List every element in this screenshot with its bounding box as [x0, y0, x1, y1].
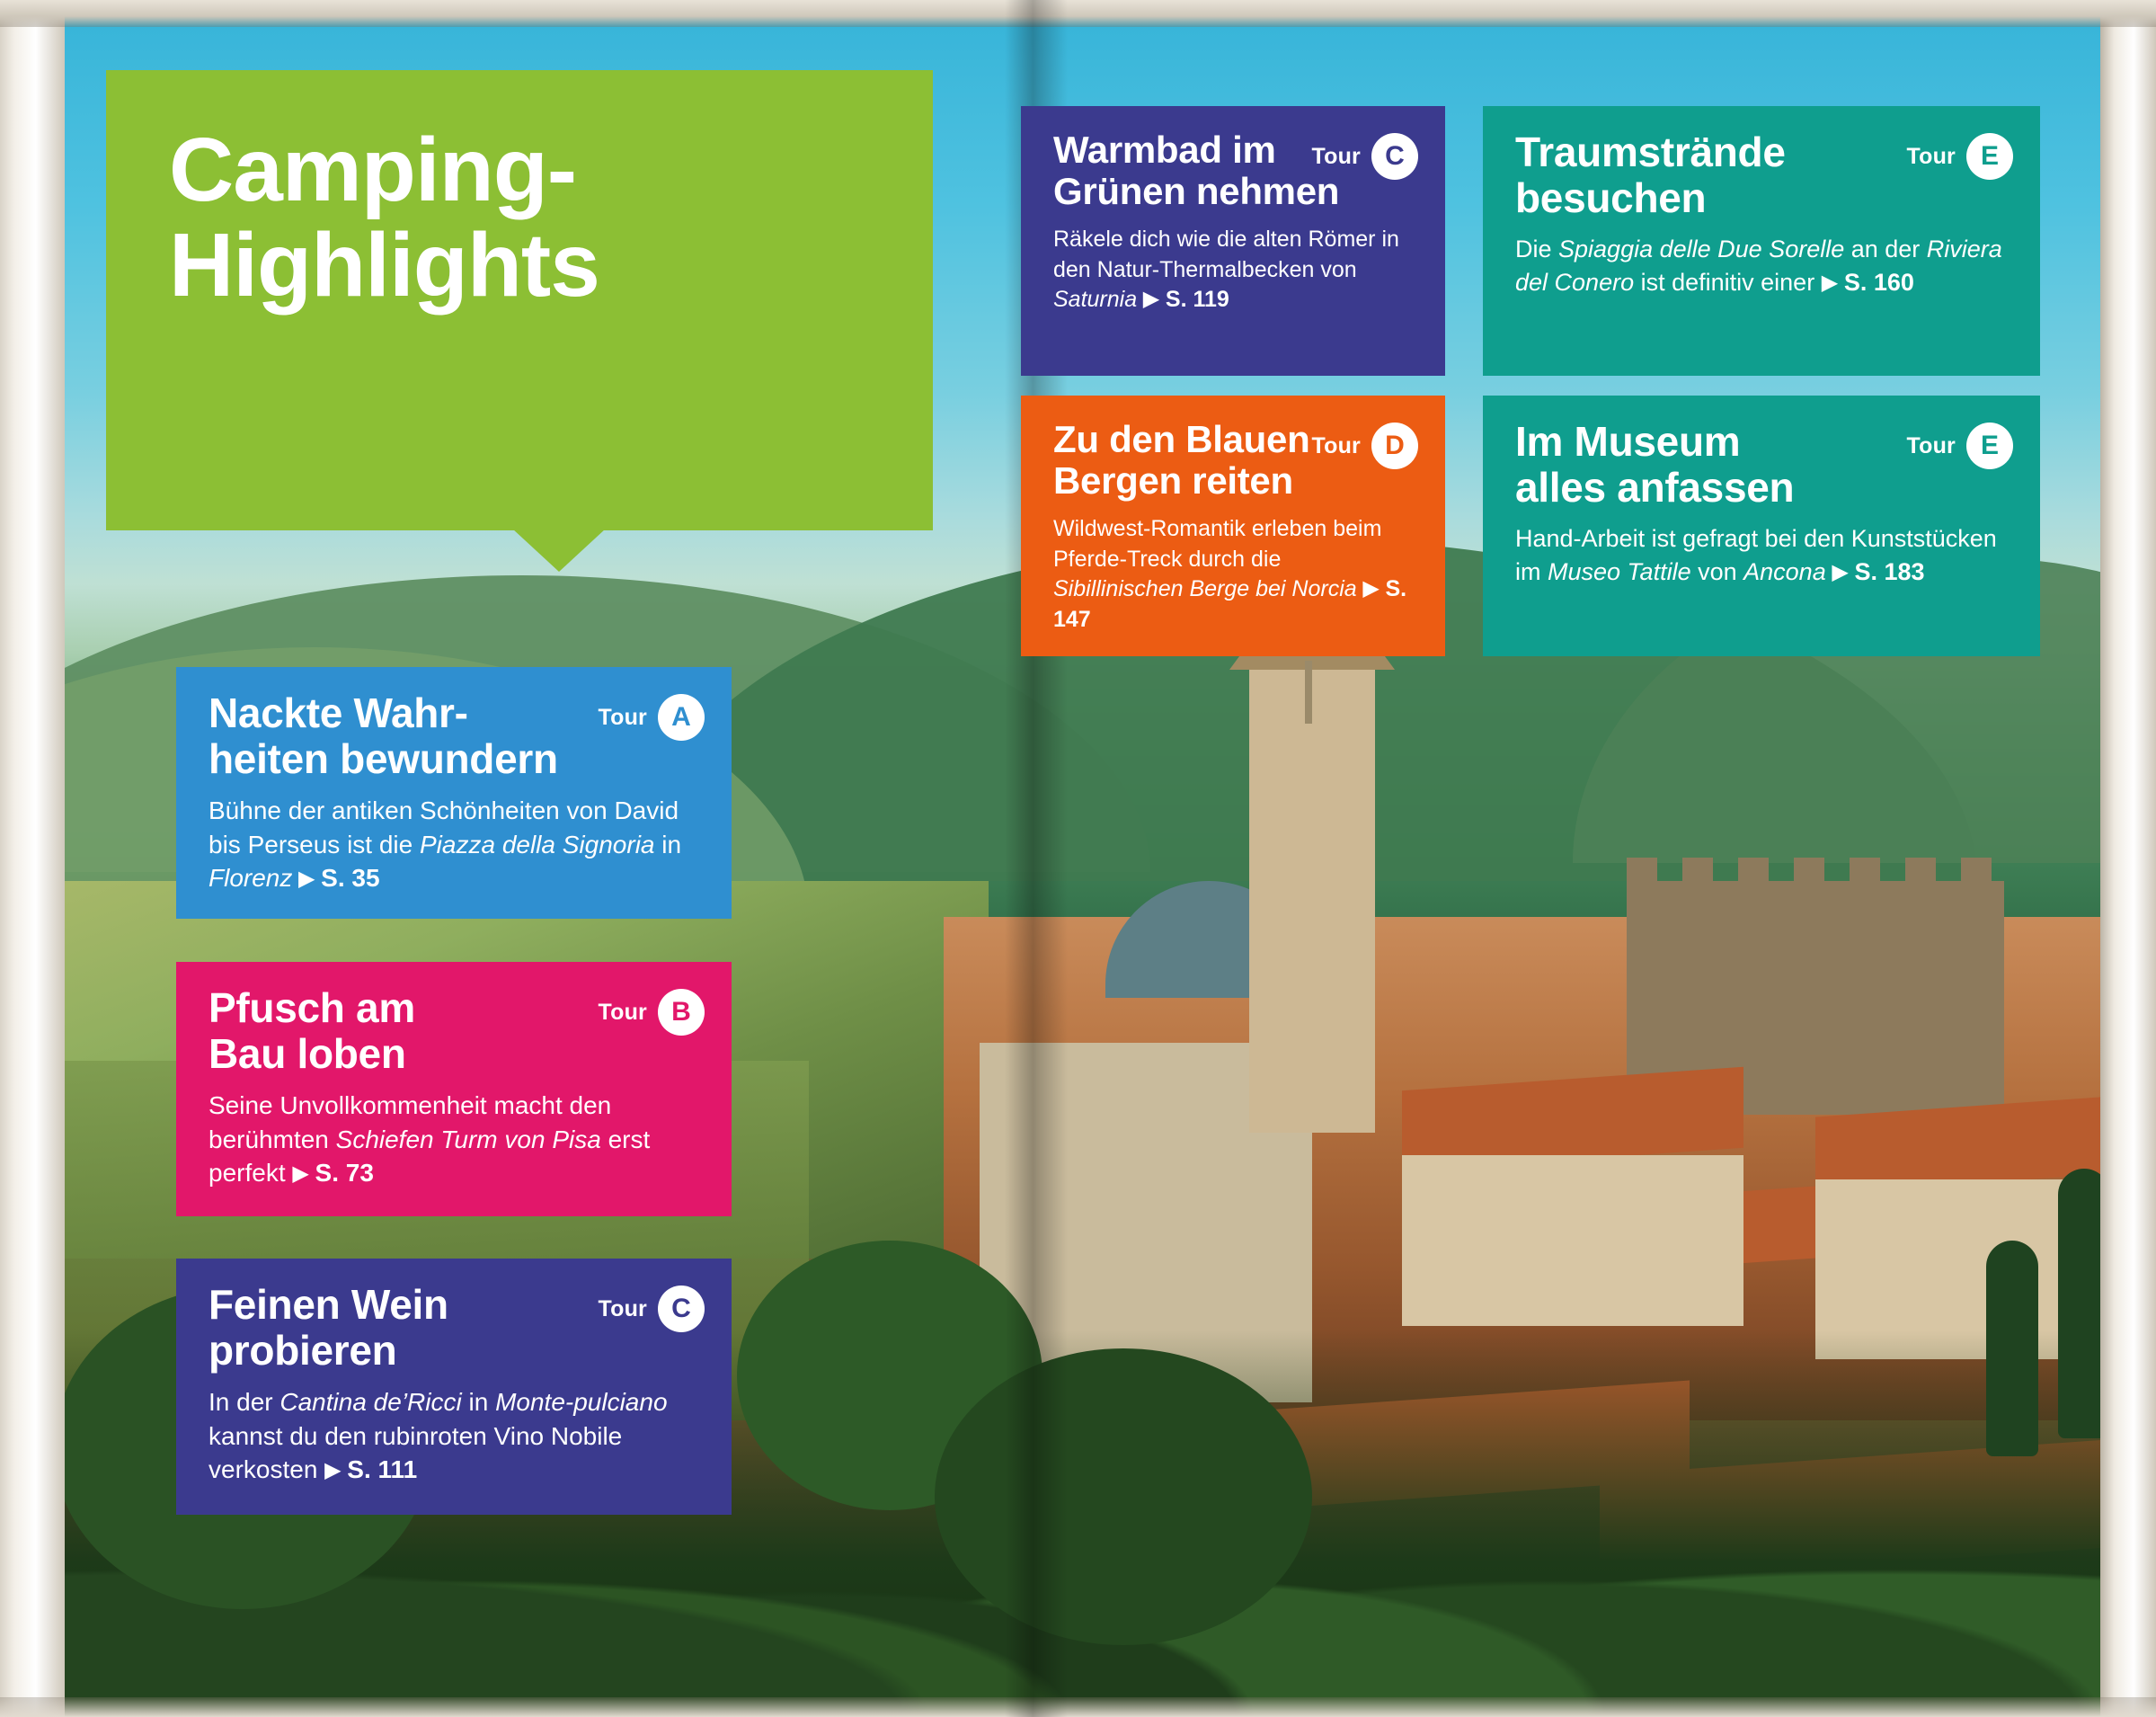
- page-ref-arrow-icon: ▶: [1822, 271, 1844, 295]
- card-description: Räkele dich wie die alten Römer in den N…: [1053, 225, 1415, 316]
- tour-badge: TourC: [1312, 133, 1419, 180]
- highlight-card-c-3[interactable]: TourCWarmbad imGrünen nehmenRäkele dich …: [1021, 106, 1445, 376]
- tour-label: Tour: [599, 705, 648, 731]
- page-ref-arrow-icon: ▶: [324, 1458, 347, 1482]
- highlight-card-a-0[interactable]: TourANackte Wahr-heiten bewundernBühne d…: [176, 667, 732, 919]
- card-heading-line1: Warmbad im: [1053, 129, 1275, 171]
- tour-badge: TourE: [1907, 133, 2014, 180]
- tour-label: Tour: [599, 1000, 648, 1026]
- card-description: Bühne der antiken Schönheiten von David …: [209, 794, 701, 895]
- page-title: Camping- Highlights: [106, 70, 599, 313]
- highlight-card-c-2[interactable]: TourCFeinen WeinprobierenIn der Cantina …: [176, 1259, 732, 1515]
- card-heading-line1: Traumstrände: [1515, 129, 1786, 175]
- card-heading-line1: Feinen Wein: [209, 1281, 448, 1328]
- highlight-card-d-4[interactable]: TourDZu den BlauenBergen reitenWildwest-…: [1021, 396, 1445, 656]
- page-edge-top: [0, 0, 2156, 27]
- tour-badge: TourC: [599, 1286, 705, 1332]
- page-title-line1: Camping-: [169, 120, 576, 220]
- card-heading-line2: heiten bewundern: [209, 735, 558, 782]
- card-heading-line2: alles anfassen: [1515, 464, 1794, 511]
- card-heading-line1: Zu den Blauen: [1053, 418, 1309, 460]
- card-heading-line2: Grünen nehmen: [1053, 170, 1339, 212]
- card-heading-line1: Nackte Wahr-: [209, 689, 468, 736]
- card-description: Wildwest-Romantik erleben beim Pferde-Tr…: [1053, 514, 1415, 635]
- book-spread: Camping- Highlights TourANackte Wahr-hei…: [0, 0, 2156, 1717]
- card-heading-line1: Pfusch am: [209, 984, 415, 1031]
- page-edge-bottom: [0, 1697, 2156, 1717]
- card-heading-line2: probieren: [209, 1327, 396, 1374]
- bell-tower: [1249, 665, 1375, 1133]
- tour-letter-badge: A: [658, 694, 705, 741]
- tour-badge: TourB: [599, 989, 705, 1036]
- tour-badge: TourA: [599, 694, 705, 741]
- page-edge-right: [2100, 0, 2156, 1717]
- tour-label: Tour: [1312, 433, 1362, 459]
- card-description: Hand-Arbeit ist gefragt bei den Kunststü…: [1515, 522, 2010, 588]
- cypress-tree: [1986, 1241, 2038, 1456]
- card-description: Die Spiaggia delle Due Sorelle an der Ri…: [1515, 233, 2010, 298]
- card-heading-line2: Bergen reiten: [1053, 459, 1293, 502]
- tour-label: Tour: [1312, 144, 1362, 170]
- page-ref-arrow-icon: ▶: [1357, 576, 1386, 601]
- wall-shape: [1402, 1155, 1743, 1326]
- tour-letter-badge: B: [658, 989, 705, 1036]
- tour-label: Tour: [1907, 433, 1956, 459]
- card-heading: Im Museumalles anfassen: [1515, 419, 1911, 510]
- tour-letter-badge: E: [1966, 133, 2013, 180]
- tour-badge: TourD: [1312, 423, 1419, 469]
- page-ref-arrow-icon: ▶: [292, 867, 321, 891]
- card-description: Seine Unvollkommenheit macht den berühmt…: [209, 1089, 701, 1190]
- tour-letter-badge: E: [1966, 423, 2013, 469]
- bush-shape: [935, 1348, 1312, 1645]
- tour-letter-badge: C: [1371, 133, 1418, 180]
- page-ref-arrow-icon: ▶: [1826, 560, 1855, 584]
- page-edge-left: [0, 0, 65, 1717]
- highlight-card-e-6[interactable]: TourEIm Museumalles anfassenHand-Arbeit …: [1483, 396, 2040, 656]
- tour-label: Tour: [599, 1296, 648, 1322]
- tour-label: Tour: [1907, 144, 1956, 170]
- page-ref-arrow-icon: ▶: [1137, 287, 1166, 311]
- page-title-line2: Highlights: [169, 215, 599, 316]
- highlight-card-b-1[interactable]: TourBPfusch amBau lobenSeine Unvollkomme…: [176, 962, 732, 1216]
- page-ref-arrow-icon: ▶: [292, 1161, 315, 1186]
- card-heading-line1: Im Museum: [1515, 418, 1740, 465]
- tower-spire: [1305, 661, 1312, 724]
- card-heading-line2: Bau loben: [209, 1030, 406, 1077]
- tour-letter-badge: D: [1371, 423, 1418, 469]
- page-title-bubble: Camping- Highlights: [106, 70, 933, 530]
- speech-bubble-tail: [512, 529, 606, 572]
- tour-badge: TourE: [1907, 423, 2014, 469]
- card-description: In der Cantina de’Ricci in Monte-pulcian…: [209, 1385, 701, 1487]
- highlight-card-e-5[interactable]: TourETraumsträndebesuchenDie Spiaggia de…: [1483, 106, 2040, 376]
- tour-letter-badge: C: [658, 1286, 705, 1332]
- card-heading-line2: besuchen: [1515, 174, 1706, 221]
- card-heading: Traumsträndebesuchen: [1515, 129, 1911, 220]
